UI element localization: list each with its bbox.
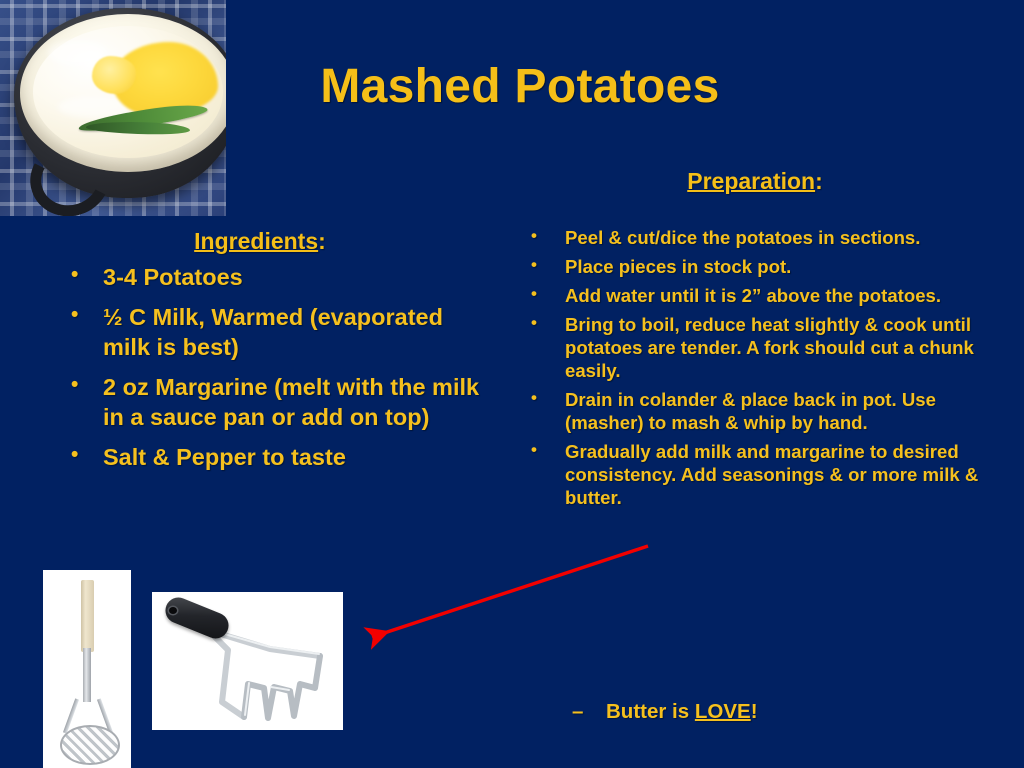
sub-item-prefix: Butter is [606, 700, 695, 723]
bullet-dot-icon: • [71, 371, 78, 398]
list-item: •2 oz Margarine (melt with the milk in a… [63, 372, 493, 433]
preparation-step-text: Gradually add milk and margarine to desi… [565, 440, 1011, 509]
masher-perforated-disc [60, 725, 120, 765]
bullet-dot-icon: • [531, 312, 537, 333]
bullet-dot-icon: • [531, 254, 537, 275]
preparation-step-text: Drain in colander & place back in pot. U… [565, 388, 1011, 434]
list-item: •Drain in colander & place back in pot. … [525, 388, 1011, 434]
list-item: •3-4 Potatoes [63, 262, 493, 293]
bullet-dot-icon: • [531, 439, 537, 460]
ingredients-heading: Ingredients: [60, 228, 460, 255]
list-item: •Peel & cut/dice the potatoes in section… [525, 226, 1011, 249]
preparation-step-text: Add water until it is 2” above the potat… [565, 284, 1011, 307]
sub-item-suffix: ! [751, 700, 758, 723]
preparation-step-text: Peel & cut/dice the potatoes in sections… [565, 226, 1011, 249]
ingredient-text: 2 oz Margarine (melt with the milk in a … [103, 372, 493, 433]
masher-wooden-handle [81, 580, 94, 652]
list-item: •Bring to boil, reduce heat slightly & c… [525, 313, 1011, 382]
preparation-list: •Peel & cut/dice the potatoes in section… [525, 226, 1011, 516]
bullet-dot-icon: • [71, 301, 78, 328]
ingredient-text: Salt & Pepper to taste [103, 442, 493, 473]
bullet-dot-icon: • [71, 261, 78, 288]
preparation-step-text: Bring to boil, reduce heat slightly & co… [565, 313, 1011, 382]
ingredients-list: •3-4 Potatoes •½ C Milk, Warmed (evapora… [63, 262, 493, 481]
slide-canvas: Mashed Potatoes Preparation: Ingredients… [0, 0, 1024, 768]
butter-pat [92, 56, 136, 94]
preparation-heading: Preparation: [520, 168, 990, 195]
ingredient-text: 3-4 Potatoes [103, 262, 493, 293]
preparation-sub-item: –Butter is LOVE! [572, 700, 758, 724]
masher-hanging-hole [169, 607, 177, 614]
list-item: •½ C Milk, Warmed (evaporated milk is be… [63, 302, 493, 363]
list-item: •Salt & Pepper to taste [63, 442, 493, 473]
ingredients-heading-label: Ingredients [194, 228, 318, 254]
bullet-dot-icon: • [531, 387, 537, 408]
dash-bullet-icon: – [572, 700, 606, 724]
slide-title: Mashed Potatoes [240, 62, 800, 112]
list-item: •Place pieces in stock pot. [525, 255, 1011, 278]
bullet-dot-icon: • [71, 441, 78, 468]
bullet-dot-icon: • [531, 283, 537, 304]
preparation-heading-colon: : [815, 168, 823, 194]
ingredient-text: ½ C Milk, Warmed (evaporated milk is bes… [103, 302, 493, 363]
list-item: •Gradually add milk and margarine to des… [525, 440, 1011, 509]
masher-metal-shaft [83, 648, 91, 702]
sub-item-emphasis: LOVE [695, 700, 751, 723]
preparation-heading-label: Preparation [687, 168, 815, 194]
list-item: •Add water until it is 2” above the pota… [525, 284, 1011, 307]
mashed-potatoes-photo [0, 0, 226, 216]
potato-masher-wire-photo [152, 592, 343, 730]
ingredients-heading-colon: : [318, 228, 326, 254]
potato-masher-disc-photo [43, 570, 131, 768]
preparation-step-text: Place pieces in stock pot. [565, 255, 1011, 278]
bullet-dot-icon: • [531, 225, 537, 246]
